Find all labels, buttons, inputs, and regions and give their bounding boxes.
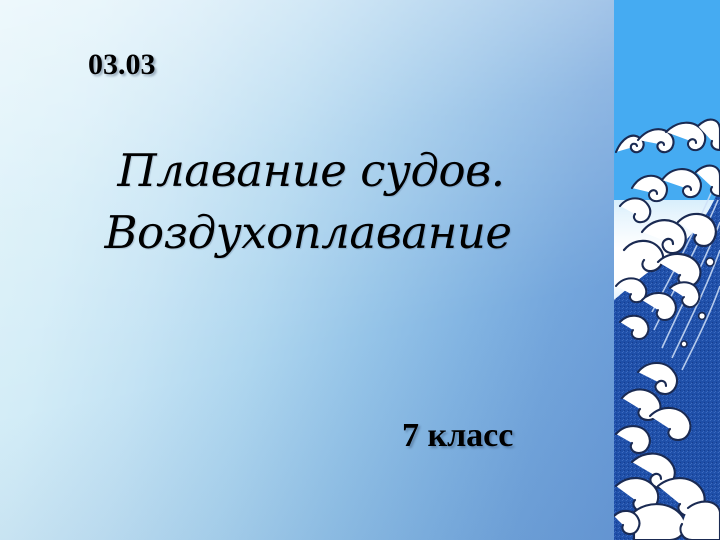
great-wave-icon [614, 0, 720, 540]
slide-content-pane: 03.03 Плавание судов. Воздухоплавание 7 … [0, 0, 616, 540]
slide-title-line-1: Плавание судов. [0, 140, 616, 202]
slide-grade-label: 7 класс [402, 417, 513, 455]
presentation-slide: 03.03 Плавание судов. Воздухоплавание 7 … [0, 0, 720, 540]
slide-date: 03.03 [88, 48, 156, 82]
wave-decoration-panel [614, 0, 720, 540]
slide-title: Плавание судов. Воздухоплавание [0, 140, 616, 264]
slide-title-line-2: Воздухоплавание [0, 202, 616, 264]
